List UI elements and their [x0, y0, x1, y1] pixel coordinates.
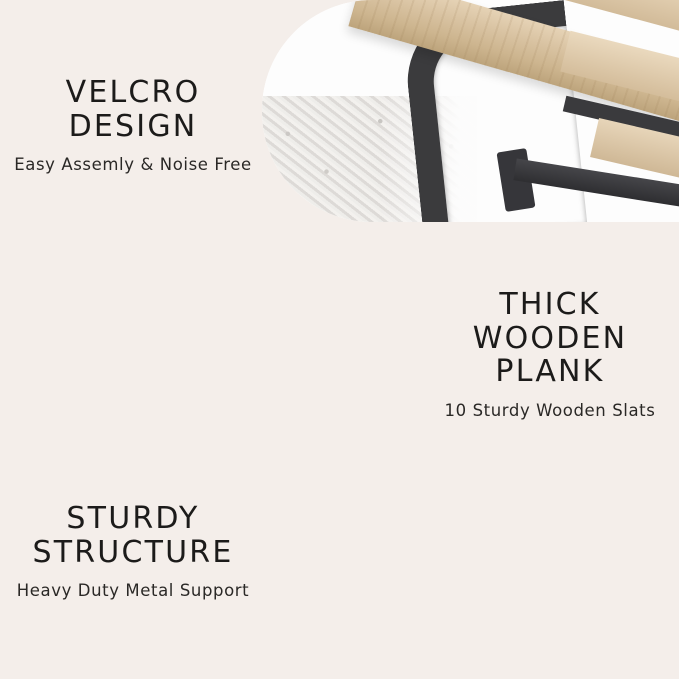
feature-section-sturdy-structure: STURDY STRUCTURE Heavy Duty Metal Suppor…	[0, 452, 679, 679]
sturdy-structure-text-block: STURDY STRUCTURE Heavy Duty Metal Suppor…	[8, 502, 258, 600]
velcro-design-text-block: VELCRO DESIGN Easy Assemly & Noise Free	[8, 76, 258, 174]
feature-section-velcro-design: VELCRO DESIGN Easy Assemly & Noise Free	[0, 0, 679, 226]
product-feature-infographic: VELCRO DESIGN Easy Assemly & Noise Free	[0, 0, 679, 679]
thick-wooden-plank-text-block: THICK WOODEN PLANK 10 Sturdy Wooden Slat…	[425, 288, 675, 420]
thick-wooden-plank-headline: THICK WOODEN PLANK	[425, 288, 675, 389]
velcro-design-photo	[262, 0, 679, 222]
velcro-design-subline: Easy Assemly & Noise Free	[8, 155, 258, 174]
feature-section-thick-wooden-plank: THICK WOODEN PLANK 10 Sturdy Wooden Slat…	[0, 226, 679, 452]
sturdy-structure-headline: STURDY STRUCTURE	[8, 502, 258, 569]
thick-wooden-plank-subline: 10 Sturdy Wooden Slats	[425, 401, 675, 420]
velcro-design-headline: VELCRO DESIGN	[8, 76, 258, 143]
sturdy-structure-subline: Heavy Duty Metal Support	[8, 581, 258, 600]
